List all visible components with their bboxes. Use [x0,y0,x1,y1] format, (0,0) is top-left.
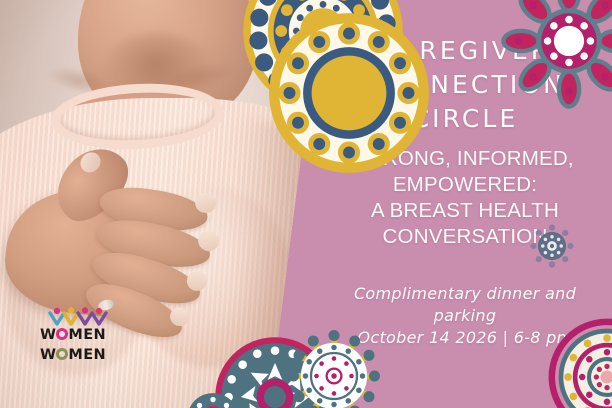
mandala-bottom-sunburst-icon [288,330,380,408]
subtitle-line-3: A BREAST HEALTH [318,198,612,224]
mandala-top-right-icon [506,0,612,104]
mandala-inline-conversation-icon [530,224,574,268]
poster-canvas: WMEN WMEN CAREGIVER CONNECTION CIRCLE ST… [0,0,612,408]
logo-word-1-suffix: MEN [68,327,106,343]
logo-o-glyph-1 [56,328,68,340]
logo-mark-icon [48,308,110,326]
details-line-1: Complimentary dinner and [318,283,612,305]
mandala-top-center-petal-ring-icon [264,8,434,178]
logo-word-2-suffix: MEN [68,347,106,363]
mandala-bottom-right-icon [548,318,612,408]
logo-word-1: WMEN [40,328,126,343]
logo-word-2: WMEN [40,348,126,363]
mandala-bottom-left-small-icon [186,392,240,408]
logo-o-glyph-2 [56,348,68,360]
logo: WMEN WMEN [40,308,126,364]
logo-word-2-prefix: W [40,347,56,363]
logo-word-1-prefix: W [40,327,56,343]
